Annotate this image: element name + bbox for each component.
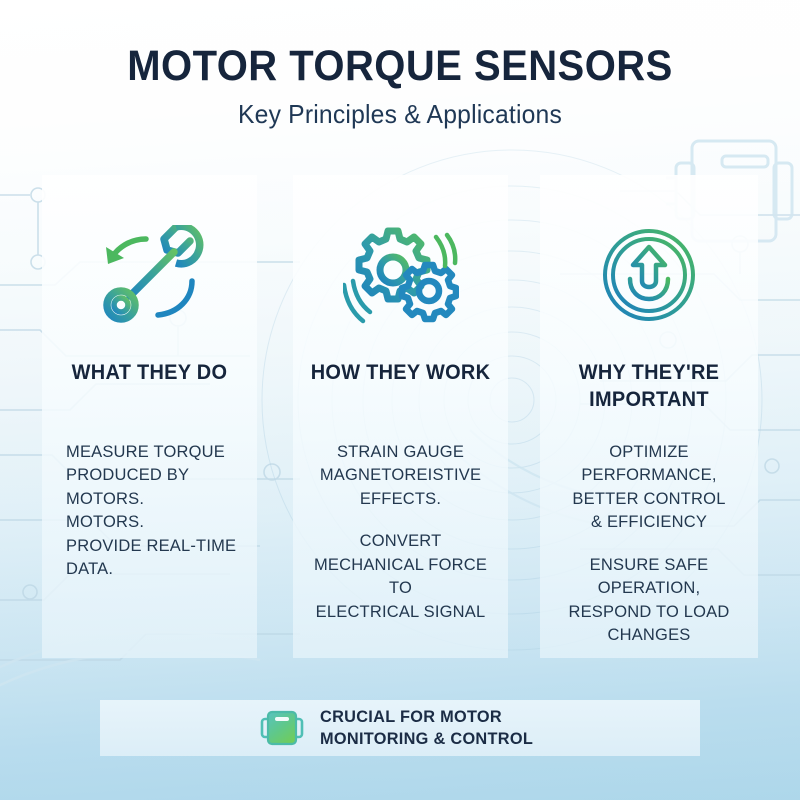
card-why-theyre-important: WHY THEY'RE IMPORTANT OPTIMIZE PERFORMAN… bbox=[540, 175, 758, 658]
card-paragraph: CONVERT MECHANICAL FORCE TO ELECTRICAL S… bbox=[303, 530, 498, 624]
header: MOTOR TORQUE SENSORS Key Principles & Ap… bbox=[0, 44, 800, 130]
card-heading: HOW THEY WORK bbox=[298, 360, 502, 387]
card-body: OPTIMIZE PERFORMANCE, BETTER CONTROL & E… bbox=[540, 441, 758, 647]
card-paragraph: STRAIN GAUGE MAGNETOREISTIVE EFFECTS. bbox=[303, 441, 498, 511]
gears-icon bbox=[293, 222, 508, 327]
wrench-rotation-icon bbox=[42, 222, 257, 327]
motor-device-icon bbox=[258, 708, 306, 748]
card-body: MEASURE TORQUE PRODUCED BY MOTORS. MOTOR… bbox=[42, 441, 257, 582]
page-subtitle: Key Principles & Applications bbox=[20, 99, 780, 130]
footer-text: CRUCIAL FOR MOTOR MONITORING & CONTROL bbox=[320, 706, 533, 751]
circle-up-arrow-icon bbox=[540, 222, 758, 327]
card-paragraph: ENSURE SAFE OPERATION, RESPOND TO LOAD C… bbox=[548, 554, 750, 648]
card-how-they-work: HOW THEY WORK STRAIN GAUGE MAGNETOREISTI… bbox=[293, 175, 508, 658]
infographic-page: MOTOR TORQUE SENSORS Key Principles & Ap… bbox=[0, 0, 800, 800]
card-what-they-do: WHAT THEY DO MEASURE TORQUE PRODUCED BY … bbox=[42, 175, 257, 658]
card-heading: WHY THEY'RE IMPORTANT bbox=[545, 360, 752, 414]
footer-banner: CRUCIAL FOR MOTOR MONITORING & CONTROL bbox=[100, 700, 700, 756]
card-paragraph: MEASURE TORQUE PRODUCED BY MOTORS. MOTOR… bbox=[66, 441, 249, 582]
card-body: STRAIN GAUGE MAGNETOREISTIVE EFFECTS. CO… bbox=[293, 441, 508, 624]
card-heading: WHAT THEY DO bbox=[47, 360, 251, 387]
card-paragraph: OPTIMIZE PERFORMANCE, BETTER CONTROL & E… bbox=[548, 441, 750, 535]
page-title: MOTOR TORQUE SENSORS bbox=[28, 44, 772, 90]
